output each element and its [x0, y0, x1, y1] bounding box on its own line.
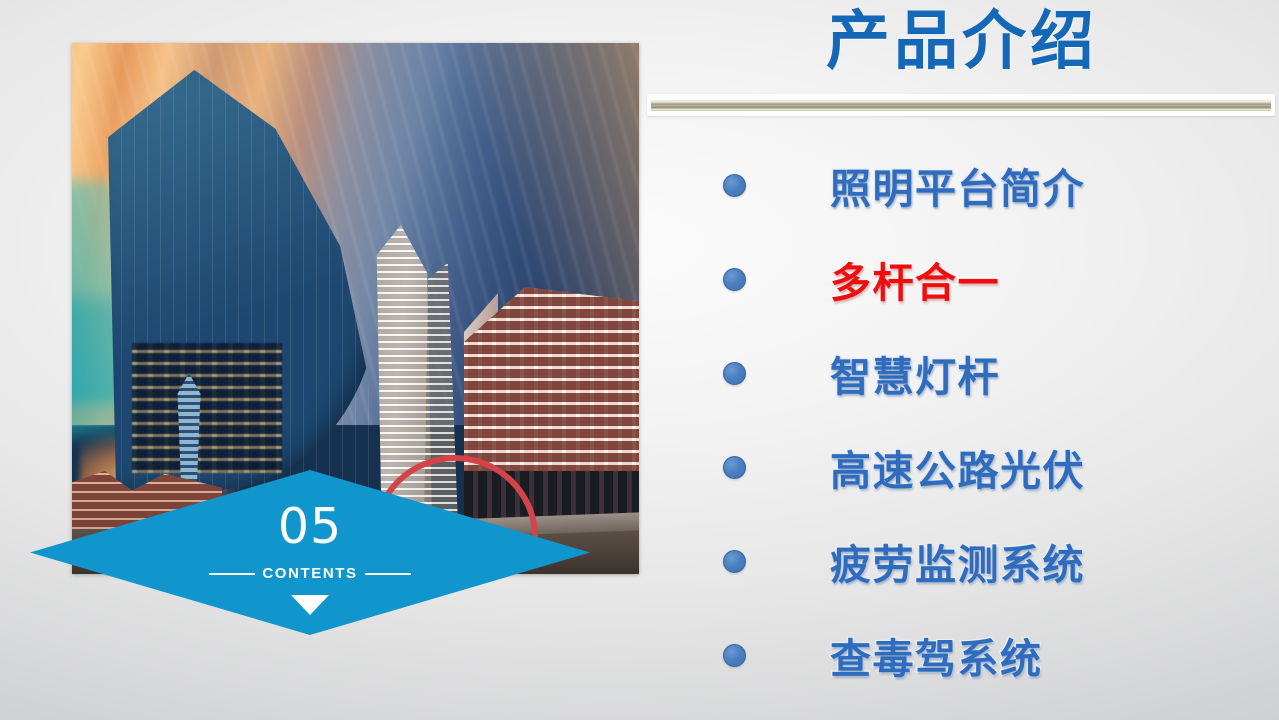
bullet-icon — [723, 174, 746, 197]
bullet-icon — [723, 362, 746, 385]
bullet-icon — [723, 456, 746, 479]
divider-bar — [651, 100, 1271, 111]
page-title: 产品介绍 — [645, 2, 1279, 84]
bullet-icon — [723, 644, 746, 667]
list-item[interactable]: 疲劳监测系统 — [645, 514, 1279, 608]
list-item-label: 智慧灯杆 — [830, 343, 1000, 403]
list-item[interactable]: 查毒驾系统 — [645, 608, 1279, 702]
list-item-label: 高速公路光伏 — [830, 437, 1085, 497]
bullet-icon — [723, 550, 746, 573]
list-item-label: 疲劳监测系统 — [830, 531, 1085, 591]
title-divider — [647, 94, 1275, 116]
bullet-icon — [723, 268, 746, 291]
lit-windows-block — [132, 343, 282, 473]
topic-list: 照明平台简介 多杆合一 智慧灯杆 高速公路光伏 疲劳监测系统 查毒驾系统 — [645, 138, 1279, 702]
list-item-label: 多杆合一 — [830, 249, 1000, 309]
list-item[interactable]: 多杆合一 — [645, 232, 1279, 326]
list-item[interactable]: 高速公路光伏 — [645, 420, 1279, 514]
content-panel: 产品介绍 照明平台简介 多杆合一 智慧灯杆 高速公路光伏 疲劳监测系统 查毒驾系… — [645, 0, 1279, 720]
list-item-label: 查毒驾系统 — [830, 625, 1043, 685]
list-item-label: 照明平台简介 — [830, 155, 1085, 215]
list-item[interactable]: 照明平台简介 — [645, 138, 1279, 232]
list-item[interactable]: 智慧灯杆 — [645, 326, 1279, 420]
